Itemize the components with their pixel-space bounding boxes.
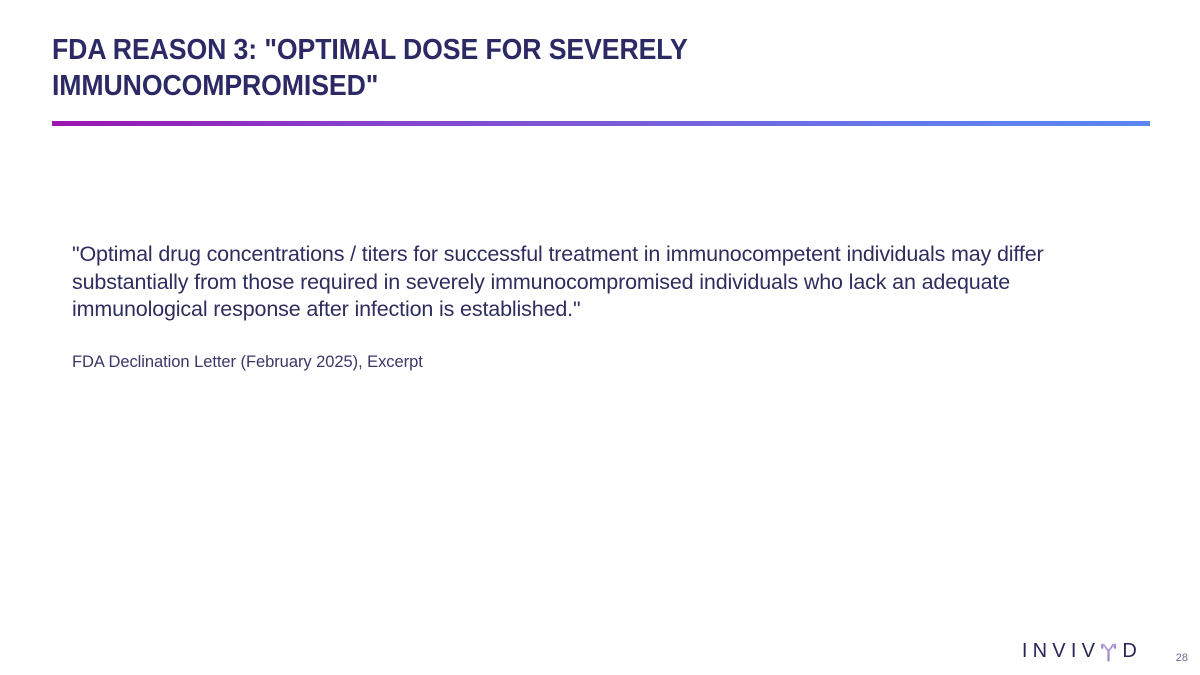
brand-logo-text: INVIV D xyxy=(1022,641,1142,661)
page-title: FDA REASON 3: "OPTIMAL DOSE FOR SEVERELY… xyxy=(52,32,856,104)
brand-logo-text-first: INVIV xyxy=(1022,641,1100,661)
quote-text: "Optimal drug concentrations / titers fo… xyxy=(72,241,1102,324)
antibody-y-icon xyxy=(1100,643,1117,662)
quote-source-caption: FDA Declination Letter (February 2025), … xyxy=(72,351,423,373)
gradient-divider xyxy=(52,121,1150,126)
brand-logo: INVIV D xyxy=(1022,641,1142,661)
quote-block: "Optimal drug concentrations / titers fo… xyxy=(72,241,1102,324)
page-number: 28 xyxy=(1176,653,1188,664)
title-block: FDA REASON 3: "OPTIMAL DOSE FOR SEVERELY… xyxy=(52,32,912,104)
slide-canvas: FDA REASON 3: "OPTIMAL DOSE FOR SEVERELY… xyxy=(0,0,1200,675)
brand-logo-text-last: D xyxy=(1122,641,1142,661)
